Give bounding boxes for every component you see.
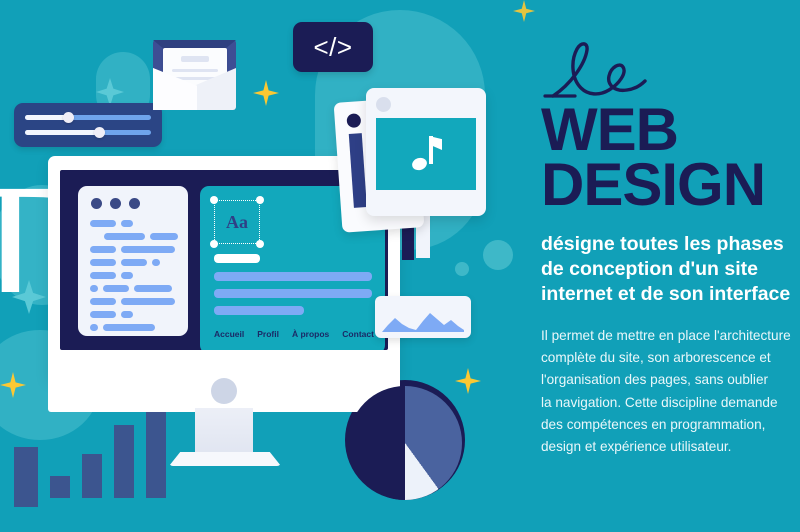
text-placeholder-2: [214, 289, 372, 298]
slider-knob-2[interactable]: [94, 127, 105, 138]
code-badge: </>: [293, 22, 373, 72]
code-line: [90, 272, 178, 279]
bar-1: [50, 476, 70, 498]
sparkle-gold-icon-1: [253, 80, 279, 106]
body-line-2: complète du site, son arborescence et: [541, 347, 800, 369]
bar-2: [82, 454, 102, 498]
nav-link-profil[interactable]: Profil: [257, 329, 279, 339]
area-chart-svg: [382, 306, 464, 332]
nav-link-a-propos[interactable]: À propos: [292, 329, 329, 339]
type-sample-label: Aa: [214, 200, 260, 244]
code-line: [90, 311, 178, 318]
slider-fill-2: [25, 130, 98, 135]
body-line-1: Il permet de mettre en place l'architect…: [541, 325, 800, 347]
selection-handle-br[interactable]: [256, 240, 264, 248]
site-navigation: Accueil Profil À propos Contact: [214, 329, 374, 339]
window-dot-1: [91, 198, 102, 209]
heading-placeholder: [214, 254, 260, 263]
letter-line-1: [181, 56, 209, 62]
headline-line-2: DESIGN: [541, 159, 800, 212]
body-line-4: la navigation. Cette discipline demande: [541, 392, 800, 414]
code-editor-card: [78, 186, 188, 336]
code-line: [90, 298, 178, 305]
headline-line-1: WEB: [541, 104, 800, 157]
text-selection-box[interactable]: Aa: [214, 200, 260, 244]
monitor-base: [169, 452, 281, 466]
decorative-circle-2: [455, 262, 469, 276]
selection-handle-bl[interactable]: [210, 240, 218, 248]
slider-knob-1[interactable]: [63, 112, 74, 123]
bar-4: [146, 402, 166, 498]
bar-3: [114, 425, 134, 498]
code-lines: [90, 220, 178, 337]
sparkle-gold-icon-2: [0, 372, 26, 398]
script-le-svg: [541, 40, 671, 102]
code-line: [90, 324, 178, 331]
window-dot-3: [129, 198, 140, 209]
sparkle-gold-icon-3: [455, 368, 481, 394]
subhead-line-1: désigne toutes les phases: [541, 232, 800, 257]
letter-line-2: [172, 69, 218, 72]
window-dots: [91, 198, 140, 209]
window-dot-2: [110, 198, 121, 209]
code-line: [90, 285, 178, 292]
monitor-logo-dot: [211, 378, 237, 404]
back-card-bar: [349, 133, 367, 208]
sparkle-gold-icon-4: [513, 0, 535, 22]
media-player-group: [338, 88, 488, 248]
decorative-blue-rect: [14, 447, 38, 507]
envelope-icon: [148, 40, 241, 115]
music-note-icon: [410, 136, 442, 172]
text-placeholder-1: [214, 272, 372, 281]
media-player-card: [366, 88, 486, 216]
code-line: [90, 220, 178, 227]
selection-handle-tl[interactable]: [210, 196, 218, 204]
decorative-letter-t: T: [0, 182, 50, 292]
subhead-line-2: de conception d'un site: [541, 257, 800, 282]
code-line: [90, 246, 178, 253]
selection-handle-tr[interactable]: [256, 196, 264, 204]
settings-sliders-panel[interactable]: [14, 103, 162, 147]
script-word-le: [541, 40, 800, 102]
body-line-5: des compétences en programmation,: [541, 414, 800, 436]
nav-link-contact[interactable]: Contact: [342, 329, 374, 339]
poster-canvas: T </>: [0, 0, 800, 532]
camera-dot-icon: [376, 97, 391, 112]
code-line: [90, 233, 178, 240]
body-line-3: l'organisation des pages, sans oublier: [541, 369, 800, 391]
slider-row-1[interactable]: [25, 115, 151, 120]
subhead-line-3: internet et de son interface: [541, 282, 800, 307]
body-line-6: design et expérience utilisateur.: [541, 436, 800, 458]
nav-link-accueil[interactable]: Accueil: [214, 329, 244, 339]
pie-chart: [348, 386, 462, 500]
slider-row-2[interactable]: [25, 130, 151, 135]
code-line: [90, 259, 178, 266]
text-placeholder-3: [214, 306, 304, 315]
sparkle-teal-icon-1: [96, 78, 124, 106]
text-column: WEB DESIGN désigne toutes les phases de …: [541, 40, 800, 458]
slider-fill-1: [25, 115, 68, 120]
back-card-dot: [346, 113, 361, 128]
media-player-screen: [376, 118, 476, 190]
area-chart-card: [375, 296, 471, 338]
